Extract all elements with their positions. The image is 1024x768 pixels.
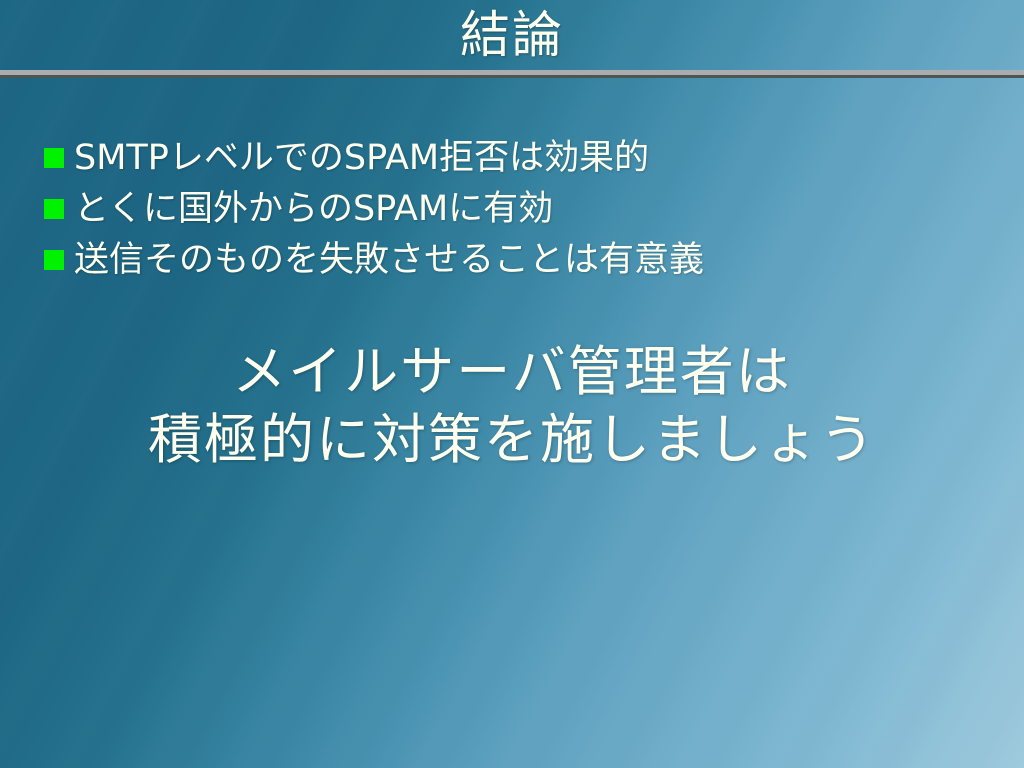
square-bullet-icon [44,148,64,168]
slide-title-area: 結論 [0,0,1024,70]
list-item-label: とくに国外からのSPAMに有効 [74,187,553,231]
list-item: とくに国外からのSPAMに有効 [44,187,944,238]
closing-message: メイルサーバ管理者は 積極的に対策を施しましょう [0,338,1024,474]
bullet-list: SMTPレベルでのSPAM拒否は効果的 とくに国外からのSPAMに有効 送信その… [44,136,944,289]
list-item-label: 送信そのものを失敗させることは有意義 [74,238,704,282]
rule-dark-band [0,75,1024,78]
list-item: 送信そのものを失敗させることは有意義 [44,238,944,289]
page-title: 結論 [460,10,564,60]
closing-message-line-2: 積極的に対策を施しましょう [0,406,1024,474]
square-bullet-icon [44,250,64,270]
list-item-label: SMTPレベルでのSPAM拒否は効果的 [74,136,649,180]
presentation-slide: 結論 SMTPレベルでのSPAM拒否は効果的 とくに国外からのSPAMに有効 送… [0,0,1024,768]
square-bullet-icon [44,199,64,219]
list-item: SMTPレベルでのSPAM拒否は効果的 [44,136,944,187]
title-separator-rule [0,70,1024,78]
closing-message-line-1: メイルサーバ管理者は [0,338,1024,406]
